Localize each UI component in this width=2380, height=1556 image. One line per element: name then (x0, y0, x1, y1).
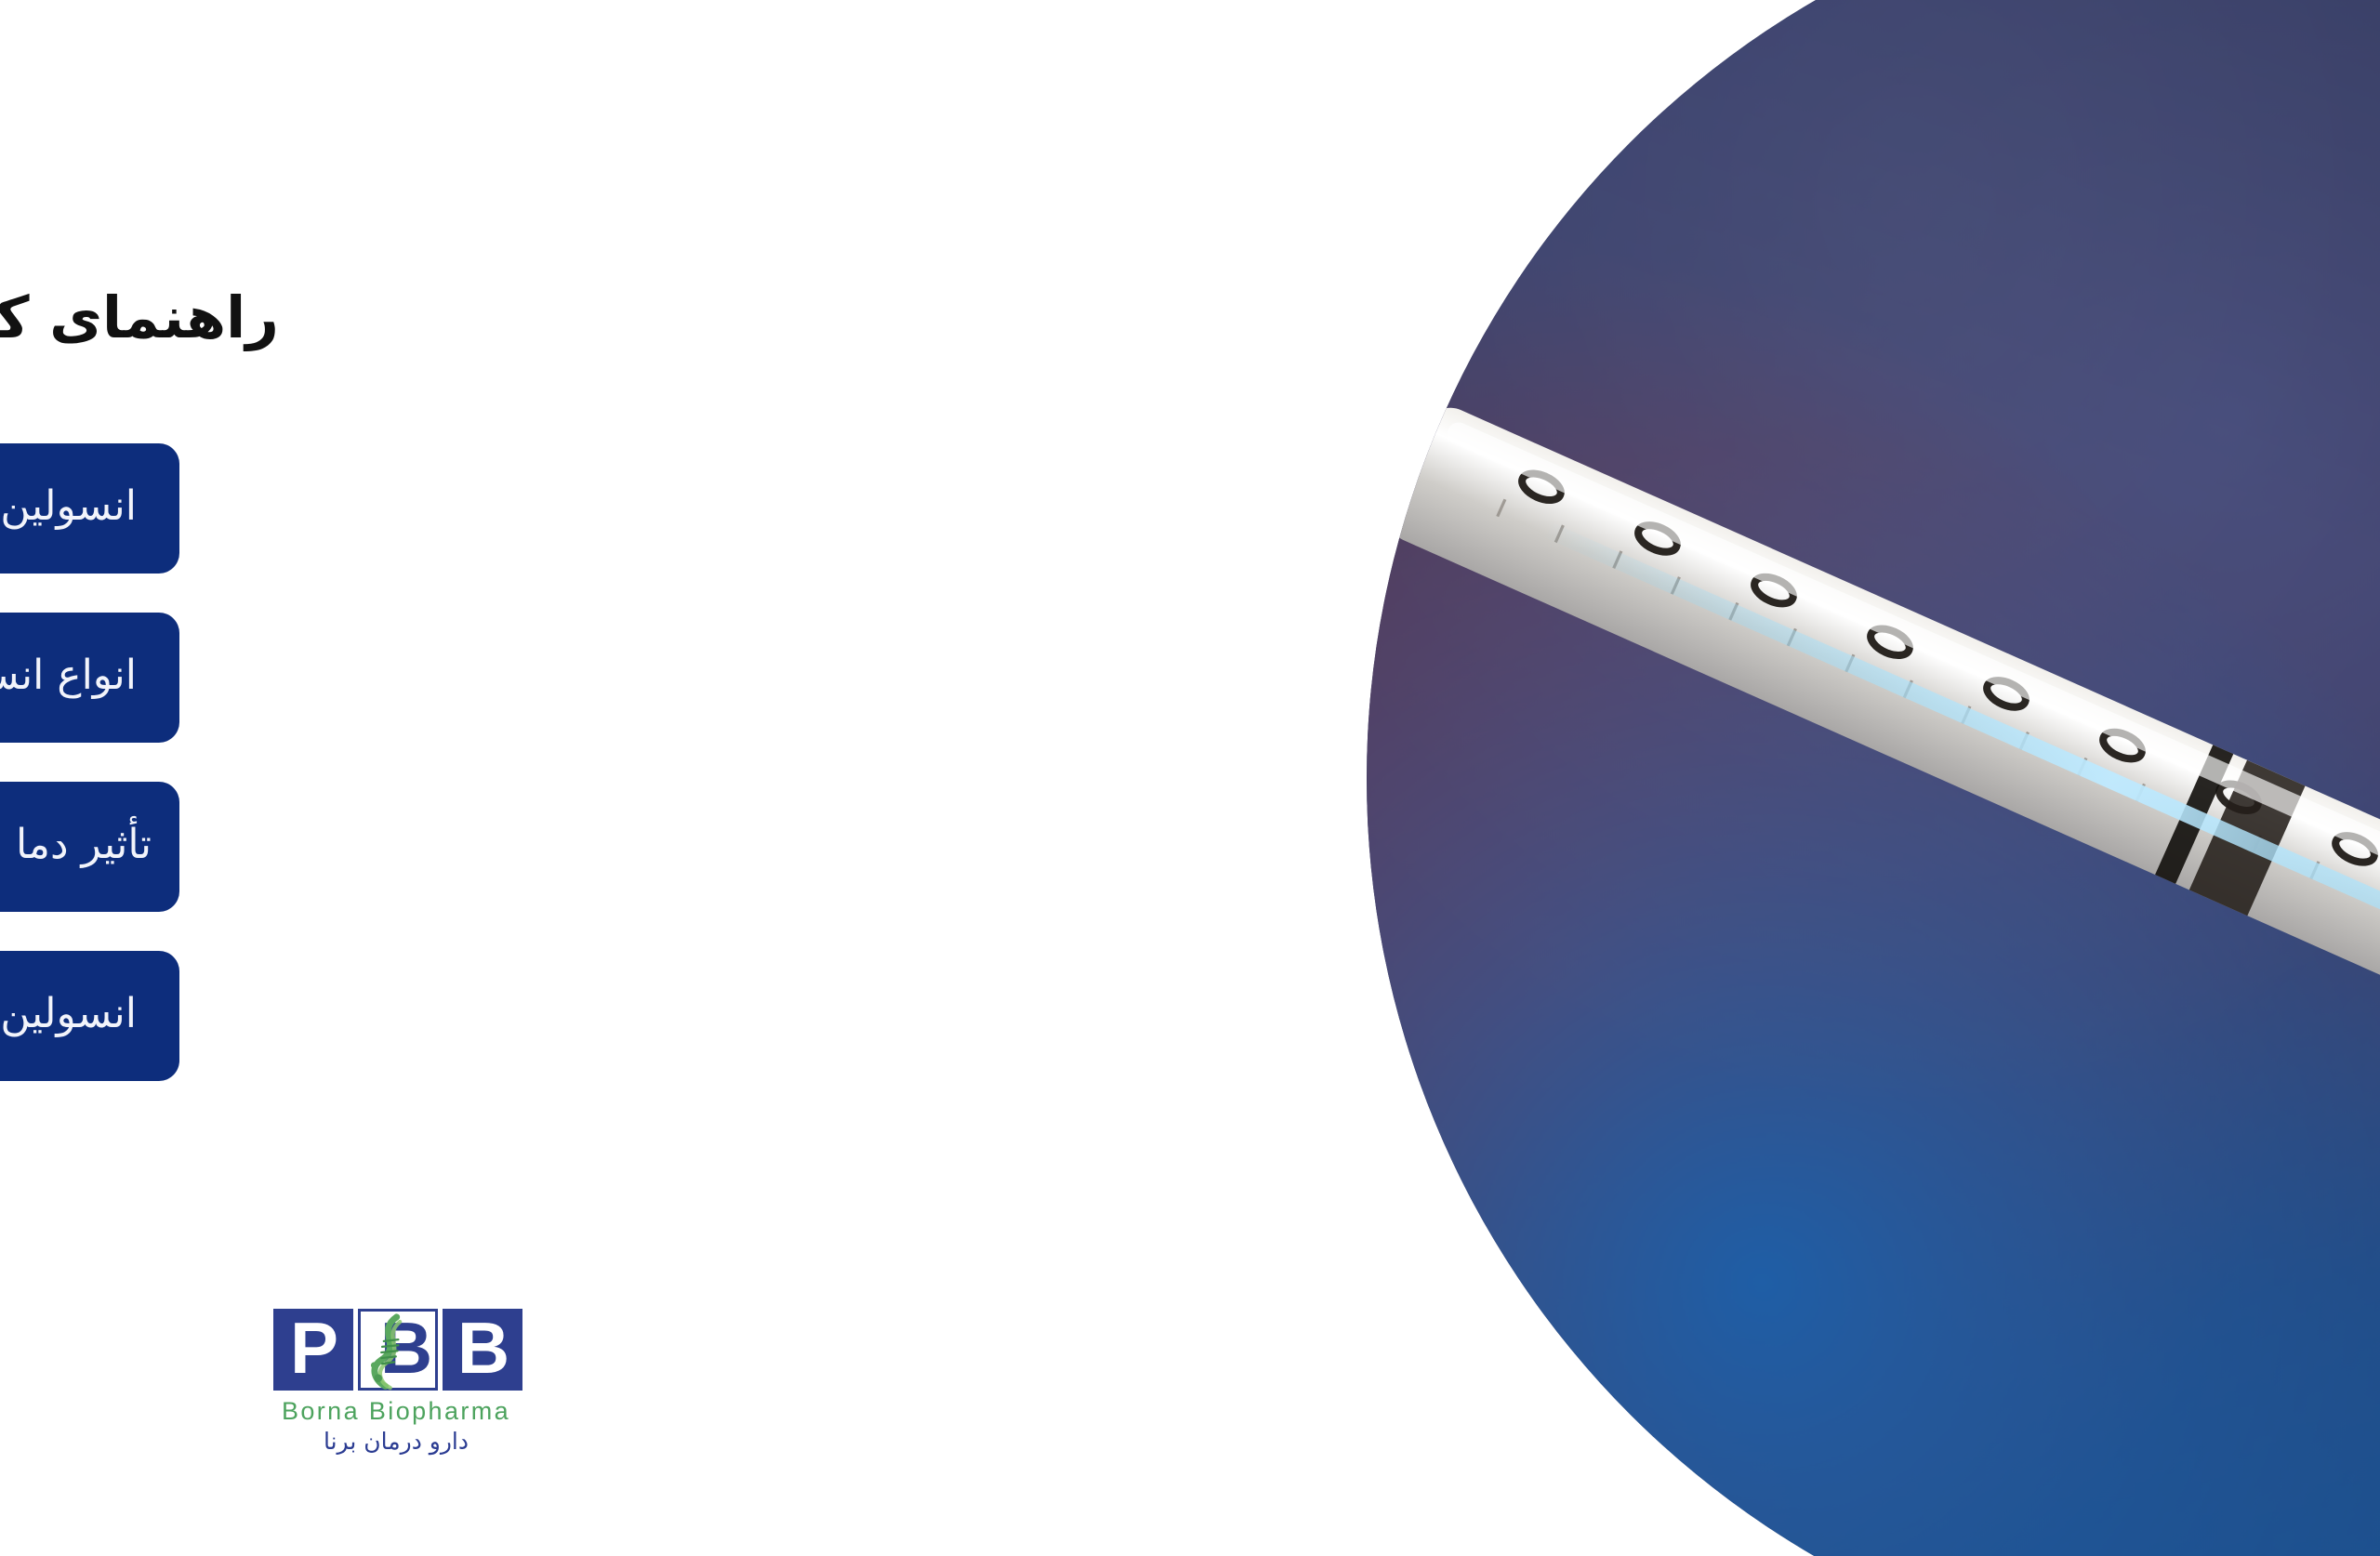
insulin-syringe-icon (1367, 347, 2380, 1282)
topic-pill-4[interactable]: انسولین دیابت و نقش آن در کنترل عفونت‌ها (0, 951, 179, 1081)
logo-letter-p: P (290, 1312, 337, 1384)
logo-box-b2: B (358, 1309, 438, 1391)
topic-pill-1[interactable]: انسولین دیابت چیست و چرا حیاتی است؟ (0, 443, 179, 574)
topic-pill-3[interactable]: تأثیر دما و شرایط نگهداری بر اثربخشی انس… (0, 782, 179, 912)
brand-logo[interactable]: B (270, 1309, 522, 1455)
logo-letter-boxes: B (270, 1309, 522, 1391)
insulin-guide-banner: راهنمای کامل استفاده از انسولین دیابت ان… (0, 0, 2380, 1556)
logo-letter-b1: B (457, 1312, 508, 1384)
hero-photo-circle (1367, 0, 2380, 1556)
page-title-lead: راهنمای کامل استفاده از (0, 284, 279, 351)
logo-box-b1: B (443, 1309, 522, 1391)
topic-pill-list: انسولین دیابت چیست و چرا حیاتی است؟ انوا… (0, 443, 179, 1081)
logo-company-name-fa: دارو درمان برنا (270, 1428, 522, 1455)
page-title: راهنمای کامل استفاده از انسولین دیابت (0, 279, 279, 357)
left-content-column: راهنمای کامل استفاده از انسولین دیابت ان… (0, 0, 1367, 1556)
logo-company-name-en: Borna Biopharma (270, 1397, 522, 1426)
topic-pill-2[interactable]: انواع انسولین و زمان مناسب تزریق (0, 613, 179, 743)
dna-helix-icon (364, 1313, 413, 1391)
logo-box-p: P (273, 1309, 353, 1391)
